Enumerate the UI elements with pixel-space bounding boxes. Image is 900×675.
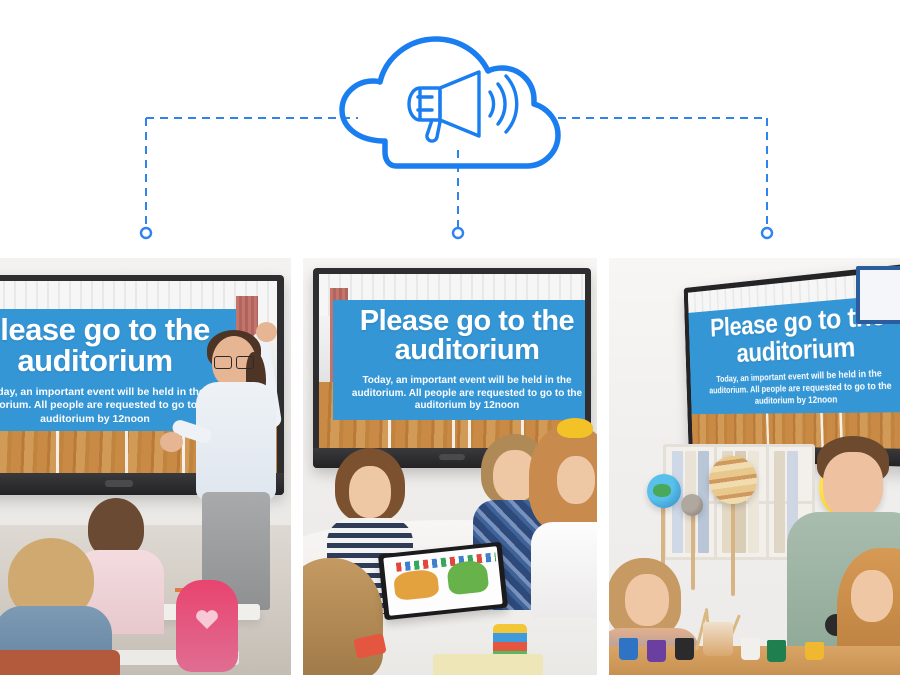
page-root: Please go to the auditorium Today, an im… bbox=[0, 0, 900, 675]
diagram-svg bbox=[0, 0, 900, 258]
paint-pot bbox=[675, 638, 694, 660]
wall-picture-frame bbox=[856, 266, 900, 324]
cloud-icon bbox=[342, 39, 558, 166]
planet-model-jupiter bbox=[709, 456, 757, 504]
planet-stick bbox=[731, 496, 735, 596]
paint-pot bbox=[767, 640, 786, 662]
tablet-device bbox=[378, 542, 508, 621]
planet-model-grey bbox=[681, 494, 703, 516]
child-figure-4 bbox=[303, 558, 383, 675]
panel-children-tablet: Please go to the auditorium Today, an im… bbox=[303, 258, 597, 675]
panel-classroom-teacher: Please go to the auditorium Today, an im… bbox=[0, 258, 291, 675]
display-screen-2: Please go to the auditorium Today, an im… bbox=[319, 274, 585, 448]
announcement-body: Today, an important event will be held i… bbox=[688, 368, 900, 409]
announcement-overlay-2: Please go to the auditorium Today, an im… bbox=[333, 300, 585, 420]
open-book bbox=[433, 654, 543, 675]
megaphone-icon bbox=[409, 72, 517, 141]
paint-pot bbox=[805, 642, 824, 660]
paint-pot bbox=[741, 638, 760, 660]
tablet-screen bbox=[383, 546, 502, 616]
child-figure-3 bbox=[527, 430, 597, 602]
cloud-broadcast-diagram bbox=[0, 0, 900, 258]
chair bbox=[0, 650, 120, 675]
endpoint-center-node bbox=[453, 228, 463, 238]
endpoint-right-node bbox=[762, 228, 772, 238]
panel-row: Please go to the auditorium Today, an im… bbox=[0, 258, 900, 675]
tablet-app-graphics bbox=[396, 552, 496, 571]
hair-bow bbox=[557, 418, 593, 438]
backpack bbox=[176, 580, 238, 672]
planet-model-earth bbox=[647, 474, 681, 508]
water-jar bbox=[703, 622, 733, 656]
announcement-body: Today, an important event will be held i… bbox=[333, 375, 585, 413]
announcement-headline: Please go to the auditorium bbox=[333, 307, 585, 366]
paint-pot bbox=[647, 640, 666, 662]
glasses-icon bbox=[214, 356, 254, 367]
panel-science-craft: Please go to the auditorium Today, an im… bbox=[609, 258, 900, 675]
endpoint-left-node bbox=[141, 228, 151, 238]
paint-pot bbox=[619, 638, 638, 660]
